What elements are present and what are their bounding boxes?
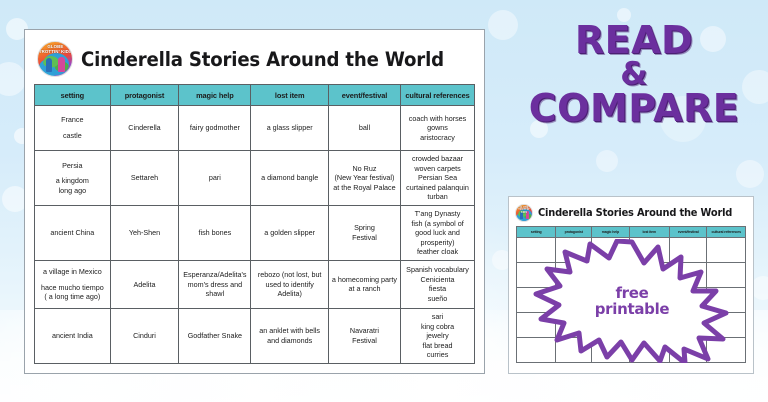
cell-setting-lines: a village in Mexico hace mucho tiempo ( … — [37, 267, 108, 302]
cell-magic-help-lines: pari — [181, 173, 248, 183]
blank-cell — [629, 263, 669, 288]
cell-lost-item: a golden slipper — [251, 205, 328, 260]
cell-event-festival: Navaratri Festival — [328, 308, 400, 363]
line: prosperity) — [403, 238, 472, 248]
cell-magic-help: Godfather Snake — [179, 308, 251, 363]
cell-protagonist-lines: Settareh — [113, 173, 177, 183]
cell-protagonist-lines: Cinderella — [113, 123, 177, 133]
line: castle — [37, 131, 108, 141]
cell-protagonist: Adelita — [110, 260, 179, 308]
line: used to identify — [253, 280, 325, 290]
cell-cultural-references: sari king cobra jewelry flat bread curri… — [401, 308, 475, 363]
cell-protagonist-lines: Cinduri — [113, 331, 177, 341]
thumbnail-blank-row — [517, 313, 746, 338]
cell-setting-lines: ancient India — [37, 331, 108, 341]
table-row: ancient China Yeh-Shen fish bones a gold… — [35, 205, 475, 260]
thumbnail-blank-row — [517, 288, 746, 313]
line: turban — [403, 192, 472, 202]
kid-figure-left-icon — [46, 58, 52, 72]
line: an anklet with bells — [253, 326, 325, 336]
cell-setting: ancient China — [35, 205, 111, 260]
logo-text-line2: TROTTIN' — [39, 49, 60, 54]
line: T'ang Dynasty — [403, 209, 472, 219]
line: Cinduri — [113, 331, 177, 341]
blank-cell — [517, 288, 556, 313]
blank-cell — [592, 288, 630, 313]
blank-cell — [629, 313, 669, 338]
blank-cell — [669, 313, 707, 338]
table-row: Persia a kingdom long ago Settareh pari … — [35, 151, 475, 206]
cell-protagonist-lines: Yeh-Shen — [113, 228, 177, 238]
cinderella-comparison-table: setting protagonist magic help lost item… — [34, 84, 475, 364]
line: feather cloak — [403, 247, 472, 257]
cell-event-festival-lines: a homecoming party at a ranch — [331, 275, 398, 294]
line: pari — [181, 173, 248, 183]
line: Spanish vocabulary — [403, 265, 472, 275]
line: Adelita — [113, 280, 177, 290]
thumb-column-header-setting: setting — [517, 227, 556, 238]
cell-magic-help-lines: Godfather Snake — [181, 331, 248, 341]
cell-cultural-references: coach with horses gowns aristocracy — [401, 106, 475, 151]
line: Festival — [331, 336, 398, 346]
cell-lost-item-lines: a golden slipper — [253, 228, 325, 238]
logo-text: GLOBE TROTTIN' KIDS — [516, 207, 532, 215]
cell-cultural-references: crowded bazaar woven carpets Persian Sea… — [401, 151, 475, 206]
line: Cinderella — [113, 123, 177, 133]
page-title: Cinderella Stories Around the World — [81, 48, 444, 71]
cell-lost-item: a glass slipper — [251, 106, 328, 151]
cell-magic-help: pari — [179, 151, 251, 206]
thumb-column-header-magic-help: magic help — [592, 227, 630, 238]
kid-figure-right-icon — [58, 57, 65, 72]
line: gowns — [403, 123, 472, 133]
line: ancient China — [37, 228, 108, 238]
line: aristocracy — [403, 133, 472, 143]
line: curries — [403, 350, 472, 360]
cell-lost-item-lines: rebozo (not lost, but used to identify A… — [253, 270, 325, 299]
table-row: France castle Cinderella fairy godmother… — [35, 106, 475, 151]
logo-text-line3: KIDS — [521, 211, 527, 214]
line: fiesta — [403, 284, 472, 294]
blank-cell — [669, 263, 707, 288]
blank-cell — [592, 263, 630, 288]
thumbnail-header: GLOBE TROTTIN' KIDS Cinderella Stories A… — [516, 202, 746, 224]
globe-trottin-kids-logo-icon: GLOBE TROTTIN' KIDS — [515, 204, 533, 222]
thumb-column-header-protagonist: protagonist — [556, 227, 592, 238]
line: Godfather Snake — [181, 331, 248, 341]
column-header-protagonist: protagonist — [110, 85, 179, 106]
line: king cobra — [403, 322, 472, 332]
line: jewelry — [403, 331, 472, 341]
thumbnail-blank-table: setting protagonist magic help lost item… — [516, 226, 746, 363]
blank-cell — [629, 238, 669, 263]
logo-text: GLOBE TROTTIN' KIDS — [38, 45, 72, 55]
cell-protagonist: Yeh-Shen — [110, 205, 179, 260]
blank-cell — [629, 288, 669, 313]
table-header-row: setting protagonist magic help lost item… — [35, 85, 475, 106]
blank-cell — [556, 263, 592, 288]
line: (New Year festival) — [331, 173, 398, 183]
thumbnail-blank-row — [517, 263, 746, 288]
blank-cell — [707, 338, 746, 363]
line: woven carpets — [403, 164, 472, 174]
cell-magic-help-lines: Esperanza/Adelita's mom's dress and shaw… — [181, 270, 248, 299]
blank-cell — [629, 338, 669, 363]
line: Esperanza/Adelita's — [181, 270, 248, 280]
cell-magic-help-lines: fish bones — [181, 228, 248, 238]
blank-cell — [707, 288, 746, 313]
line: Festival — [331, 233, 398, 243]
blank-cell — [517, 313, 556, 338]
line: at the Royal Palace — [331, 183, 398, 193]
column-header-cultural-references: cultural references — [401, 85, 475, 106]
cell-setting-lines: ancient China — [37, 228, 108, 238]
line: hace mucho tiempo — [37, 283, 108, 293]
column-header-setting: setting — [35, 85, 111, 106]
blank-cell — [707, 238, 746, 263]
thumbnail-title: Cinderella Stories Around the World — [538, 207, 732, 219]
line: fairy godmother — [181, 123, 248, 133]
cell-lost-item: an anklet with bells and diamonds — [251, 308, 328, 363]
blank-cell — [592, 238, 630, 263]
cell-setting-lines: France castle — [37, 115, 108, 140]
table-row: ancient India Cinduri Godfather Snake an… — [35, 308, 475, 363]
cell-cultural-references-lines: crowded bazaar woven carpets Persian Sea… — [403, 154, 472, 202]
cell-event-festival-lines: Spring Festival — [331, 223, 398, 242]
line: No Ruz — [331, 164, 398, 174]
cell-event-festival-lines: ball — [331, 123, 398, 133]
blank-cell — [669, 288, 707, 313]
column-header-event-festival: event/festival — [328, 85, 400, 106]
line: ancient India — [37, 331, 108, 341]
cell-lost-item-lines: a glass slipper — [253, 123, 325, 133]
line: mom's dress and — [181, 280, 248, 290]
line: curtained palanquin — [403, 183, 472, 193]
cell-protagonist-lines: Adelita — [113, 280, 177, 290]
line: shawl — [181, 289, 248, 299]
cell-magic-help: fish bones — [179, 205, 251, 260]
table-body: France castle Cinderella fairy godmother… — [35, 106, 475, 364]
line: ball — [331, 123, 398, 133]
line: Persian Sea — [403, 173, 472, 183]
cell-protagonist: Settareh — [110, 151, 179, 206]
blank-cell — [556, 338, 592, 363]
thumb-column-header-event-festival: event/festival — [669, 227, 707, 238]
line: good luck and — [403, 228, 472, 238]
blank-cell — [556, 238, 592, 263]
cell-cultural-references-lines: T'ang Dynasty fish (a symbol of good luc… — [403, 209, 472, 257]
line: long ago — [37, 186, 108, 196]
cell-lost-item: rebozo (not lost, but used to identify A… — [251, 260, 328, 308]
cell-event-festival-lines: Navaratri Festival — [331, 326, 398, 345]
blank-cell — [669, 338, 707, 363]
cell-event-festival-lines: No Ruz (New Year festival) at the Royal … — [331, 164, 398, 193]
blank-cell — [707, 263, 746, 288]
thumb-column-header-lost-item: lost item — [629, 227, 669, 238]
thumbnail-header-row: setting protagonist magic help lost item… — [517, 227, 746, 238]
line: a kingdom — [37, 176, 108, 186]
blank-cell — [556, 288, 592, 313]
blank-cell — [517, 338, 556, 363]
card-header: GLOBE TROTTIN' KIDS Cinderella Stories A… — [34, 37, 475, 81]
line: fish bones — [181, 228, 248, 238]
cell-setting-lines: Persia a kingdom long ago — [37, 161, 108, 196]
line: crowded bazaar — [403, 154, 472, 164]
cell-event-festival: ball — [328, 106, 400, 151]
cell-lost-item-lines: an anklet with bells and diamonds — [253, 326, 325, 345]
cell-setting: a village in Mexico hace mucho tiempo ( … — [35, 260, 111, 308]
thumb-column-header-cultural-references: cultural references — [707, 227, 746, 238]
cell-cultural-references: T'ang Dynasty fish (a symbol of good luc… — [401, 205, 475, 260]
line: sueño — [403, 294, 472, 304]
line: Cenicienta — [403, 275, 472, 285]
line: Yeh-Shen — [113, 228, 177, 238]
blank-cell — [592, 313, 630, 338]
cell-event-festival: Spring Festival — [328, 205, 400, 260]
blank-cell — [669, 238, 707, 263]
line: France — [37, 115, 108, 125]
cell-event-festival: No Ruz (New Year festival) at the Royal … — [328, 151, 400, 206]
headline-line-compare: COMPARE — [505, 90, 763, 127]
line: at a ranch — [331, 284, 398, 294]
cell-protagonist: Cinderella — [110, 106, 179, 151]
line: rebozo (not lost, but — [253, 270, 325, 280]
logo-text-line3: KIDS — [61, 49, 72, 54]
cell-cultural-references: Spanish vocabulary Cenicienta fiesta sue… — [401, 260, 475, 308]
line: Navaratri — [331, 326, 398, 336]
line: sari — [403, 312, 472, 322]
column-header-magic-help: magic help — [179, 85, 251, 106]
blank-cell — [517, 238, 556, 263]
line: a homecoming party — [331, 275, 398, 285]
line: fish (a symbol of — [403, 219, 472, 229]
line: coach with horses — [403, 114, 472, 124]
blank-cell — [707, 313, 746, 338]
line: Persia — [37, 161, 108, 171]
line: flat bread — [403, 341, 472, 351]
cell-cultural-references-lines: coach with horses gowns aristocracy — [403, 114, 472, 143]
cell-magic-help-lines: fairy godmother — [181, 123, 248, 133]
line: a golden slipper — [253, 228, 325, 238]
cell-setting: France castle — [35, 106, 111, 151]
line: a village in Mexico — [37, 267, 108, 277]
thumbnail-blank-row — [517, 238, 746, 263]
headline-read-and-compare: READ & COMPARE — [505, 22, 763, 127]
thumbnail-table-body — [517, 238, 746, 363]
cell-cultural-references-lines: sari king cobra jewelry flat bread curri… — [403, 312, 472, 360]
line: Settareh — [113, 173, 177, 183]
table-row: a village in Mexico hace mucho tiempo ( … — [35, 260, 475, 308]
cell-setting: Persia a kingdom long ago — [35, 151, 111, 206]
cell-lost-item: a diamond bangle — [251, 151, 328, 206]
cell-event-festival: a homecoming party at a ranch — [328, 260, 400, 308]
globe-trottin-kids-logo-icon: GLOBE TROTTIN' KIDS — [37, 41, 73, 77]
cell-cultural-references-lines: Spanish vocabulary Cenicienta fiesta sue… — [403, 265, 472, 303]
cell-setting: ancient India — [35, 308, 111, 363]
column-header-lost-item: lost item — [251, 85, 328, 106]
line: Adelita) — [253, 289, 325, 299]
cell-magic-help: fairy godmother — [179, 106, 251, 151]
cell-magic-help: Esperanza/Adelita's mom's dress and shaw… — [179, 260, 251, 308]
thumbnail-blank-row — [517, 338, 746, 363]
line: a glass slipper — [253, 123, 325, 133]
main-printable-card: GLOBE TROTTIN' KIDS Cinderella Stories A… — [24, 29, 485, 374]
free-printable-thumbnail-card[interactable]: GLOBE TROTTIN' KIDS Cinderella Stories A… — [508, 196, 754, 374]
cell-lost-item-lines: a diamond bangle — [253, 173, 325, 183]
headline-line-read: READ — [505, 22, 763, 59]
line: Spring — [331, 223, 398, 233]
line: ( a long time ago) — [37, 292, 108, 302]
line: a diamond bangle — [253, 173, 325, 183]
line: and diamonds — [253, 336, 325, 346]
blank-cell — [556, 313, 592, 338]
cell-protagonist: Cinduri — [110, 308, 179, 363]
blank-cell — [592, 338, 630, 363]
blank-cell — [517, 263, 556, 288]
